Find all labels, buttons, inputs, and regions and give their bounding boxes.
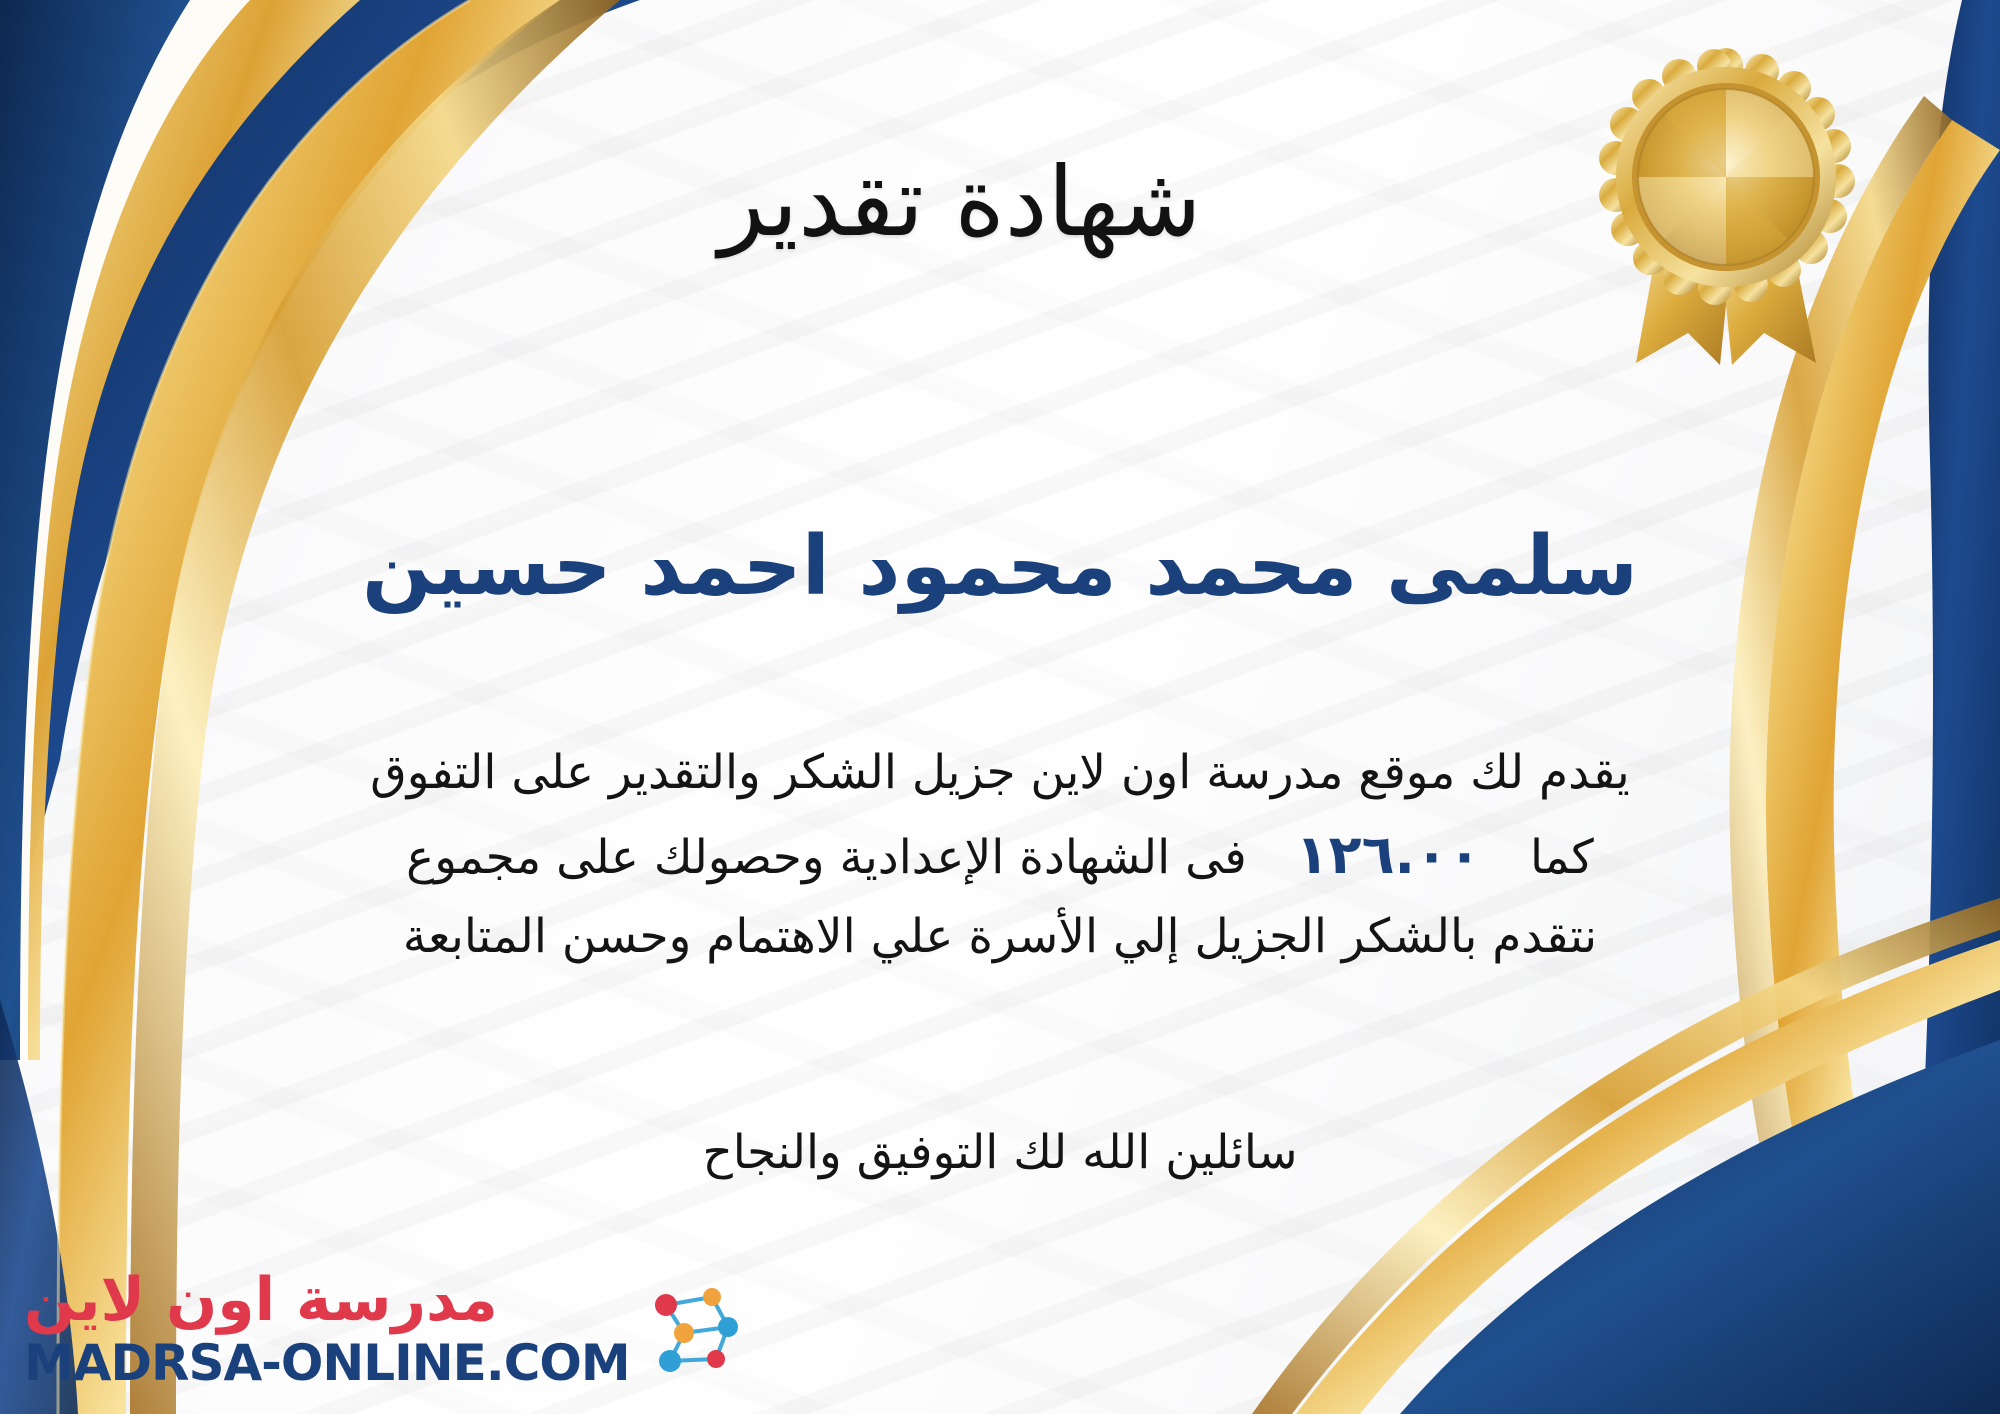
certificate-body: يقدم لك موقع مدرسة اون لاين جزيل الشكر و… — [40, 735, 1960, 975]
certificate-title: شهادة تقدير — [0, 150, 1920, 256]
body-line-3: نتقدم بالشكر الجزيل إلي الأسرة علي الاهت… — [40, 899, 1960, 975]
certificate-page: شهادة تقدير سلمى محمد محمود احمد حسين يق… — [0, 0, 2000, 1414]
body-line-1: يقدم لك موقع مدرسة اون لاين جزيل الشكر و… — [40, 735, 1960, 811]
brand-domain: MADRSA-ONLINE.COM — [24, 1338, 630, 1388]
body-line-2: كما ١٢٦.٠٠ فى الشهادة الإعدادية وحصولك ع… — [40, 811, 1960, 898]
body-line-2-prefix: فى الشهادة الإعدادية وحصولك على مجموع — [406, 830, 1247, 885]
body-line-2-suffix: كما — [1530, 830, 1594, 885]
score-value: ١٢٦.٠٠ — [1262, 823, 1515, 886]
site-logo-text: مدرسة اون لاين MADRSA-ONLINE.COM — [24, 1270, 630, 1388]
brand-name-arabic: مدرسة اون لاين — [24, 1270, 498, 1330]
site-logo[interactable]: مدرسة اون لاين MADRSA-ONLINE.COM — [24, 1270, 748, 1388]
closing-wish-text: سائلين الله لك التوفيق والنجاح — [0, 1125, 2000, 1180]
network-nodes-logo-icon — [640, 1275, 748, 1383]
recipient-name: سلمى محمد محمود احمد حسين — [0, 520, 2000, 614]
